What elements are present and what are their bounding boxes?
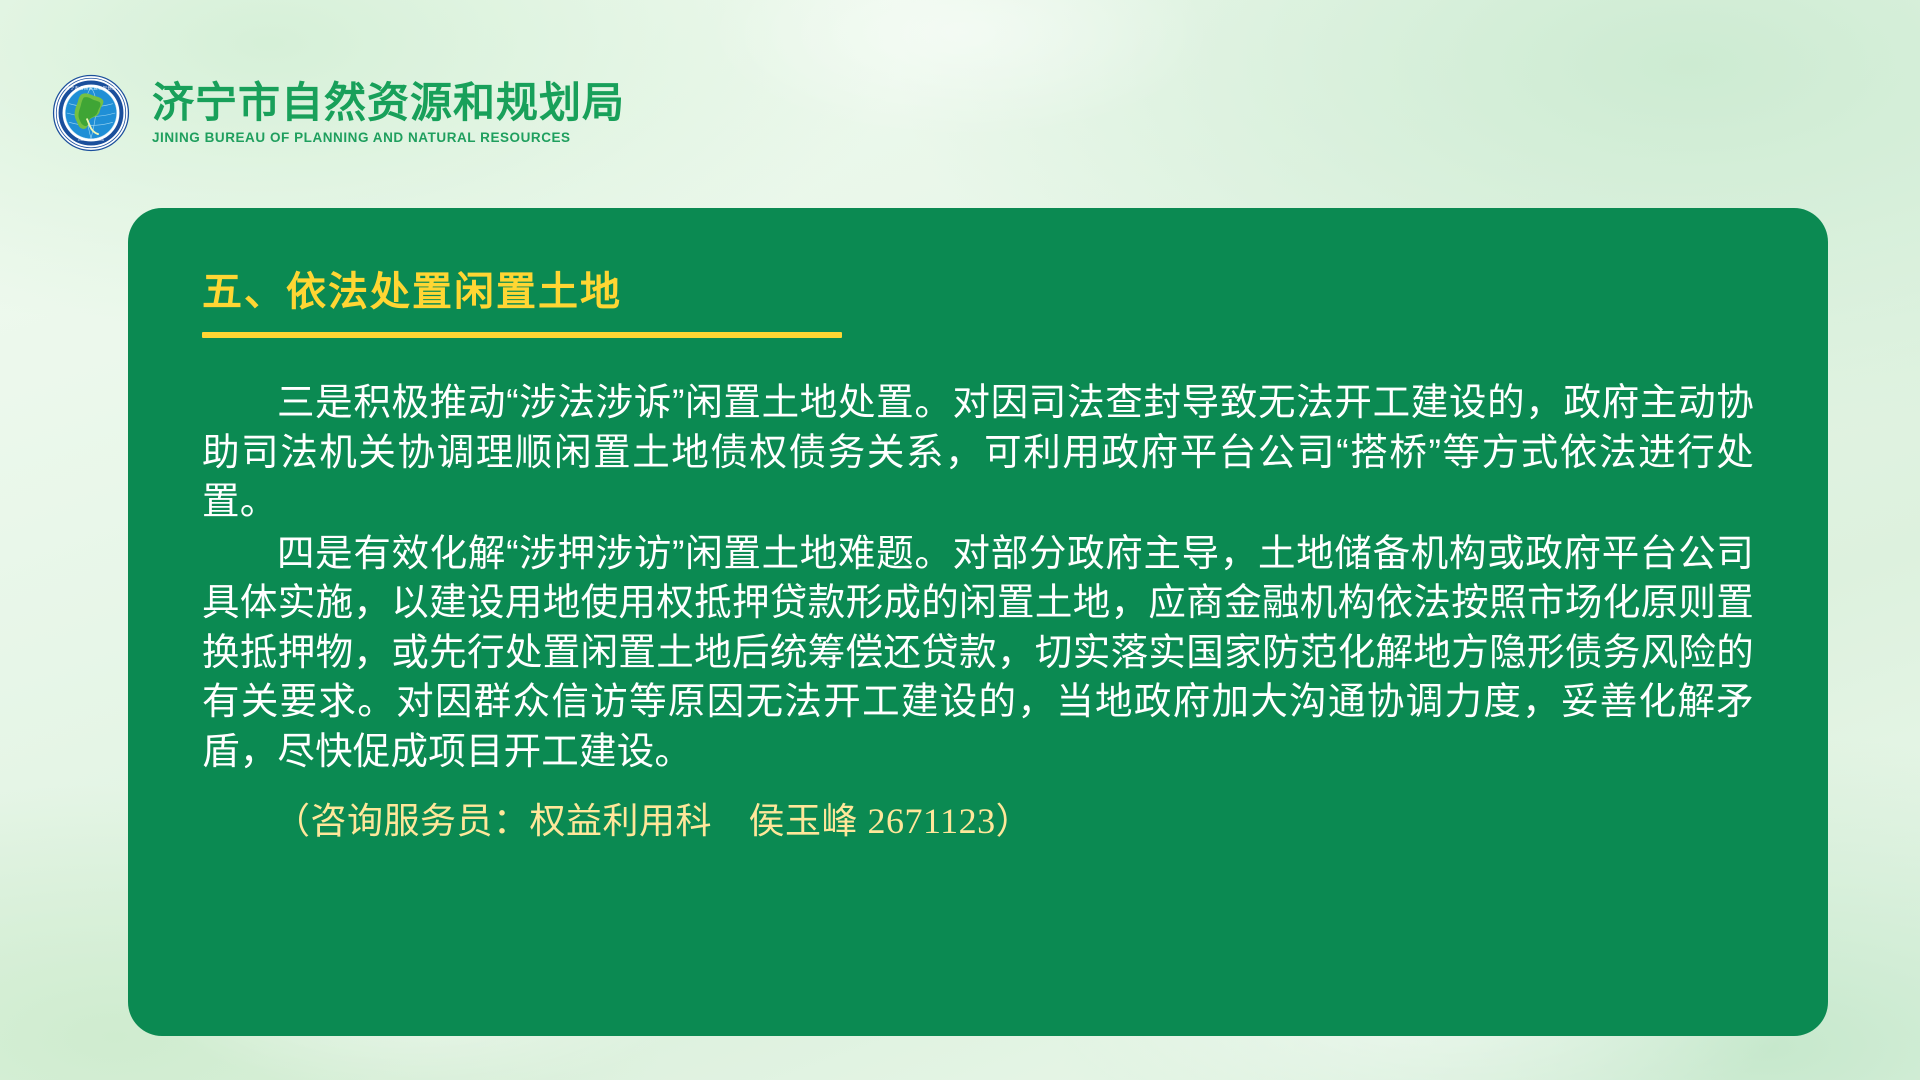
masthead-text: 济宁市自然资源和规划局 JINING BUREAU OF PLANNING AN…	[152, 82, 625, 145]
content-card: 五、依法处置闲置土地 三是积极推动“涉法涉诉”闲置土地处置。对因司法查封导致无法…	[128, 208, 1828, 1036]
title-underline-rule	[202, 332, 842, 338]
svg-text:济宁市自然资源和规划局: 济宁市自然资源和规划局	[65, 85, 116, 92]
paragraph-four: 四是有效化解“涉押涉访”闲置土地难题。对部分政府主导，土地储备机构或政府平台公司…	[202, 529, 1754, 777]
org-name-en: JINING BUREAU OF PLANNING AND NATURAL RE…	[152, 131, 625, 145]
body-copy: 三是积极推动“涉法涉诉”闲置土地处置。对因司法查封导致无法开工建设的，政府主动协…	[202, 378, 1754, 776]
jining-bureau-emblem-icon: 济宁市自然资源和规划局 JINING PLANNING	[52, 74, 130, 152]
org-name-cn: 济宁市自然资源和规划局	[152, 82, 625, 124]
paragraph-three: 三是积极推动“涉法涉诉”闲置土地处置。对因司法查封导致无法开工建设的，政府主动协…	[202, 378, 1754, 527]
contact-info: （咨询服务员：权益利用科 侯玉峰 2671123）	[202, 798, 1754, 845]
svg-text:JINING PLANNING: JINING PLANNING	[78, 138, 104, 142]
section-title: 五、依法处置闲置土地	[202, 270, 1754, 314]
masthead: 济宁市自然资源和规划局 JINING PLANNING 济宁市自然资源和规划局 …	[52, 74, 625, 152]
